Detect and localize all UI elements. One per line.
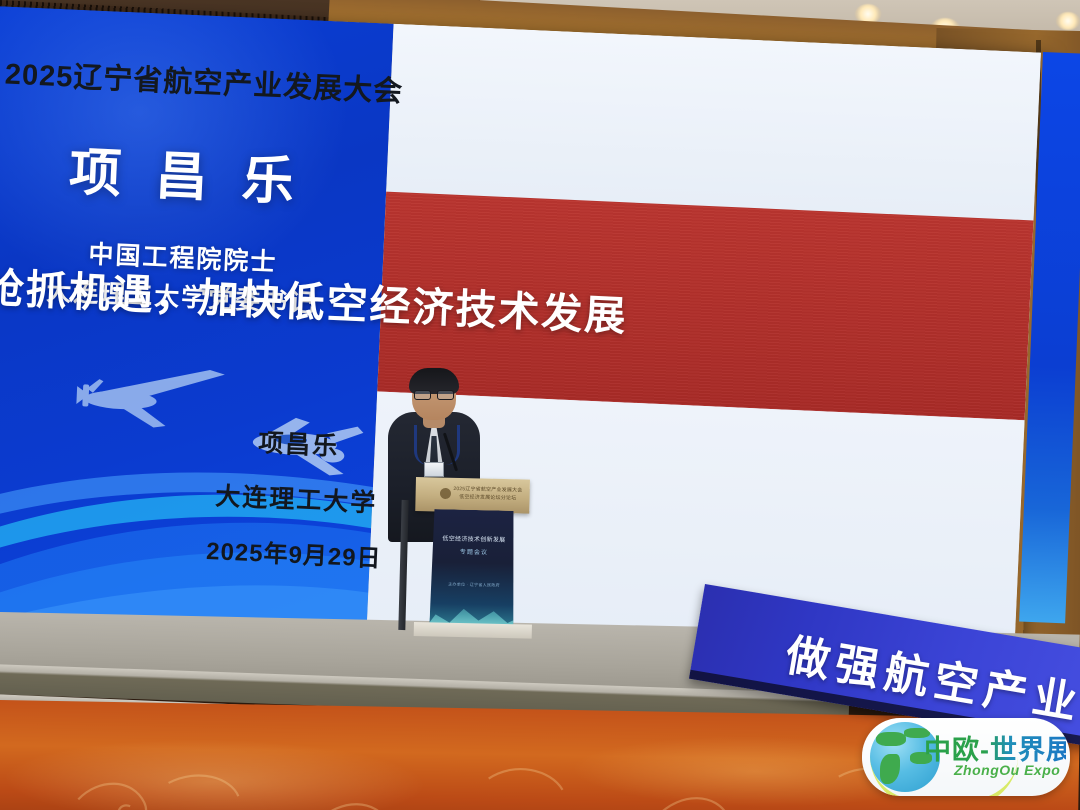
podium-base (414, 622, 532, 639)
podium-front-line-1: 低空经济技术创新发展 (436, 533, 512, 544)
led-screen: 项 昌 乐 中国工程院院士 大连理工大学党委书记 (0, 6, 1049, 672)
podium-front-line-2: 专题会议 (436, 546, 512, 557)
podium-top-text: 2025辽宁省航空产业发展大会 低空经济发展论坛分论坛 (452, 486, 524, 503)
podium-top-line-2: 低空经济发展论坛分论坛 (452, 493, 524, 502)
speaker-badge (424, 462, 444, 477)
watermark-logo: 中欧-世界展会 ZhongOu Expo (862, 718, 1070, 796)
screenshot-root: 项 昌 乐 中国工程院院士 大连理工大学党委书记 (0, 0, 1080, 810)
ceiling-light (1056, 12, 1080, 30)
watermark-subtitle: ZhongOu Expo (954, 762, 1070, 778)
podium-panel-bg (429, 509, 516, 629)
slide-header (386, 24, 1041, 221)
glasses-icon (414, 390, 454, 398)
podium-front-panel (429, 509, 516, 629)
